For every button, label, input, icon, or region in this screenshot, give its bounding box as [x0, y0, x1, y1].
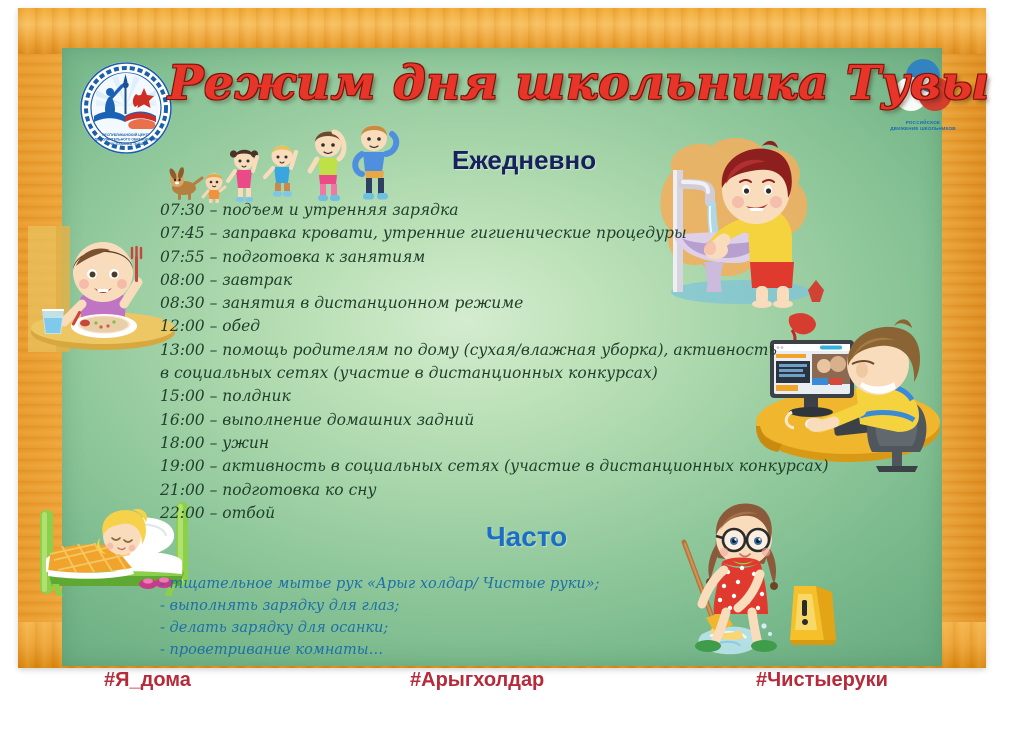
schedule-line: 07:30 – подъем и утренняя зарядка: [160, 199, 760, 222]
hashtag-chistyeruki: #Чистыеруки: [756, 669, 888, 692]
children-exercising-illustration: [168, 112, 420, 204]
schedule-line: 08:00 – завтрак: [160, 269, 760, 292]
svg-text:ДОПОЛНИТЕЛЬНОГО ОБРАЗОВАНИЯ: ДОПОЛНИТЕЛЬНОГО ОБРАЗОВАНИЯ: [94, 138, 158, 142]
daily-schedule-list: 07:30 – подъем и утренняя зарядка07:45 –…: [160, 199, 760, 525]
often-line: - выполнять зарядку для глаз;: [160, 595, 680, 617]
svg-text:РЕСПУБЛИКАНСКИЙ ЦЕНТР: РЕСПУБЛИКАНСКИЙ ЦЕНТР: [102, 133, 150, 137]
section-heading-often: Часто: [486, 521, 567, 553]
schedule-line: 13:00 – помощь родителям по дому (сухая/…: [160, 339, 760, 362]
schedule-line: 07:55 – подготовка к занятиям: [160, 246, 760, 269]
schedule-line: 18:00 – ужин: [160, 432, 760, 455]
tuva-center-emblem: РЕСПУБЛИКАНСКИЙ ЦЕНТР ДОПОЛНИТЕЛЬНОГО ОБ…: [78, 60, 174, 156]
schedule-line: 16:00 – выполнение домашних задний: [160, 409, 760, 432]
often-line: - проветривание комнаты…: [160, 639, 680, 661]
schedule-line: 08:30 – занятия в дистанционном режиме: [160, 292, 760, 315]
page-title: Режим дня школьника Тувы: [168, 56, 868, 111]
child-eating-illustration: [28, 226, 178, 352]
schedule-line: 15:00 – полдник: [160, 385, 760, 408]
hashtag-arygkholdar: #Арыгхолдар: [410, 669, 544, 692]
often-line: - делать зарядку для осанки;: [160, 617, 680, 639]
often-line: - тщательное мытье рук «Арыг холдар/ Чис…: [160, 573, 680, 595]
svg-text:РЕСПУБЛИКИ ТЫВА: РЕСПУБЛИКИ ТЫВА: [109, 142, 144, 146]
schedule-line: 12:00 – обед: [160, 315, 760, 338]
schedule-line: 19:00 – активность в социальных сетях (у…: [160, 455, 760, 478]
rdsh-caption: РОССИЙСКОЕ ДВИЖЕНИЕ ШКОЛЬНИКОВ: [880, 120, 966, 132]
schedule-line: 22:00 – отбой: [160, 502, 760, 525]
often-recommendations-list: - тщательное мытье рук «Арыг холдар/ Чис…: [160, 573, 680, 661]
poster-root: РЕСПУБЛИКАНСКИЙ ЦЕНТР ДОПОЛНИТЕЛЬНОГО ОБ…: [0, 0, 1024, 730]
schedule-line: в социальных сетях (участие в дистанцион…: [160, 362, 760, 385]
schedule-line: 07:45 – заправка кровати, утренние гигие…: [160, 222, 760, 245]
schedule-line: 21:00 – подготовка ко сну: [160, 479, 760, 502]
section-heading-daily: Ежедневно: [452, 145, 596, 176]
boy-at-computer-illustration: [748, 312, 948, 472]
hashtag-ya-doma: #Я_дома: [104, 669, 191, 692]
